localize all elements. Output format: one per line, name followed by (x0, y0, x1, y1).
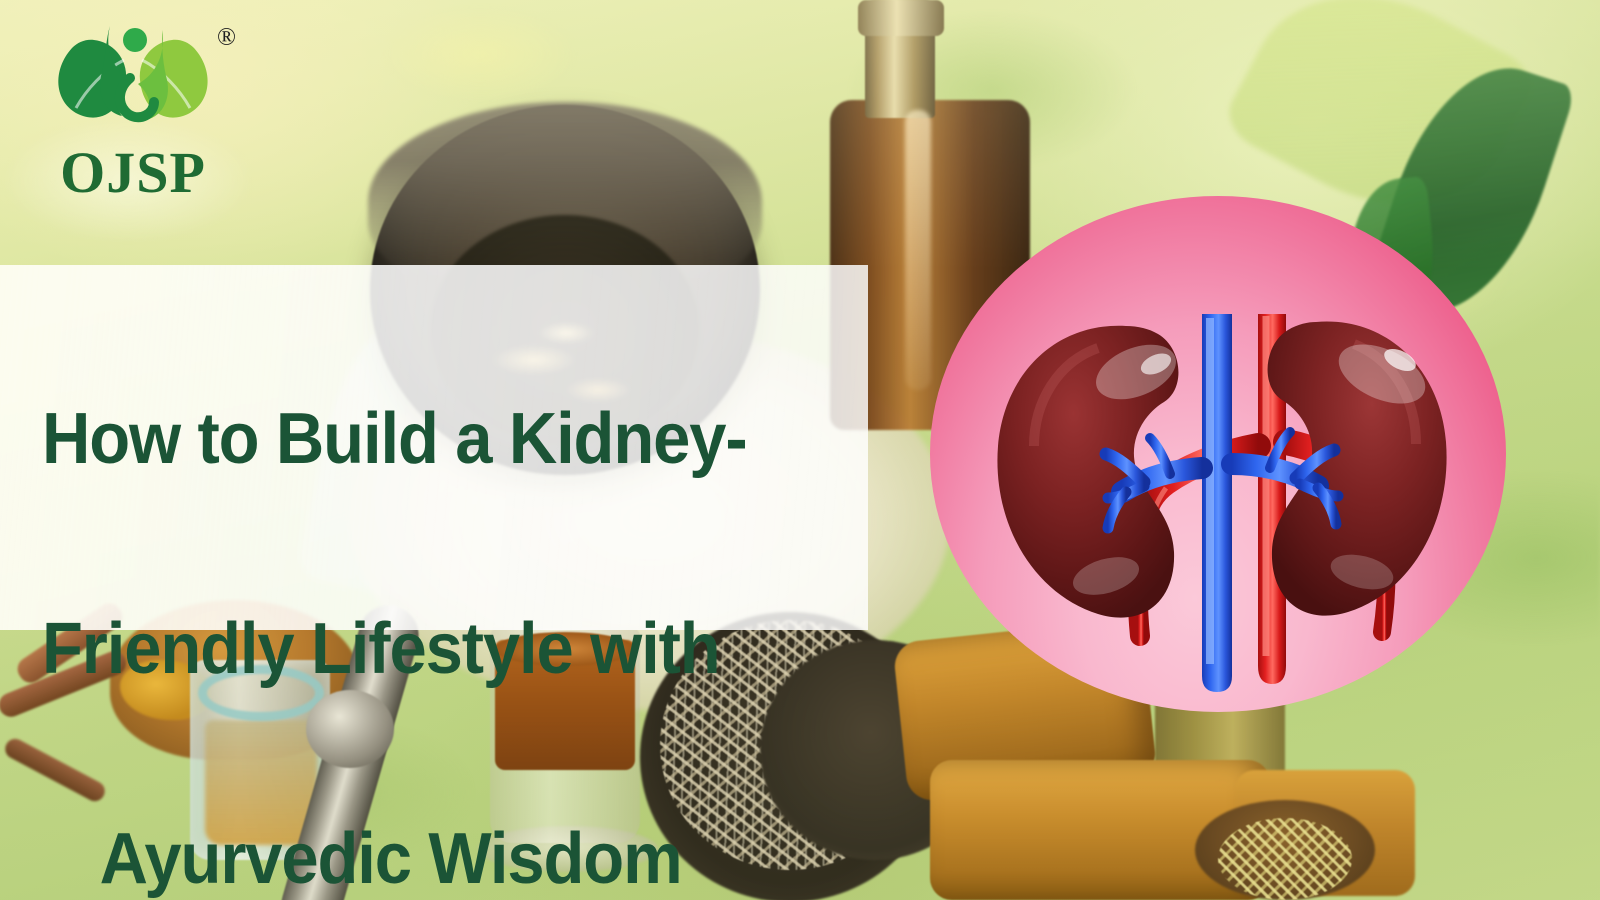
leaves-with-person-logo-icon (38, 18, 228, 148)
registered-trademark-icon: ® (217, 24, 236, 52)
banner: ® OJSP How to Build a Kidney- Friendly L… (0, 0, 1600, 900)
kidney-illustration (930, 196, 1506, 712)
headline-line-3: Ayurvedic Wisdom (42, 807, 814, 900)
dried-herbs-in-bowl (1218, 818, 1352, 900)
page-title: How to Build a Kidney- Friendly Lifestyl… (42, 282, 814, 900)
logo-wordmark: OJSP (38, 144, 228, 202)
oil-bottle-lip (858, 0, 944, 36)
headline-line-1: How to Build a Kidney- (42, 399, 747, 479)
headline-line-2: Friendly Lifestyle with (42, 609, 720, 689)
kidney-anatomy-svg (930, 196, 1506, 712)
ojsp-logo[interactable]: ® OJSP (38, 18, 228, 194)
kidney-circle-background (930, 196, 1506, 712)
oil-bottle-highlight (905, 110, 931, 390)
